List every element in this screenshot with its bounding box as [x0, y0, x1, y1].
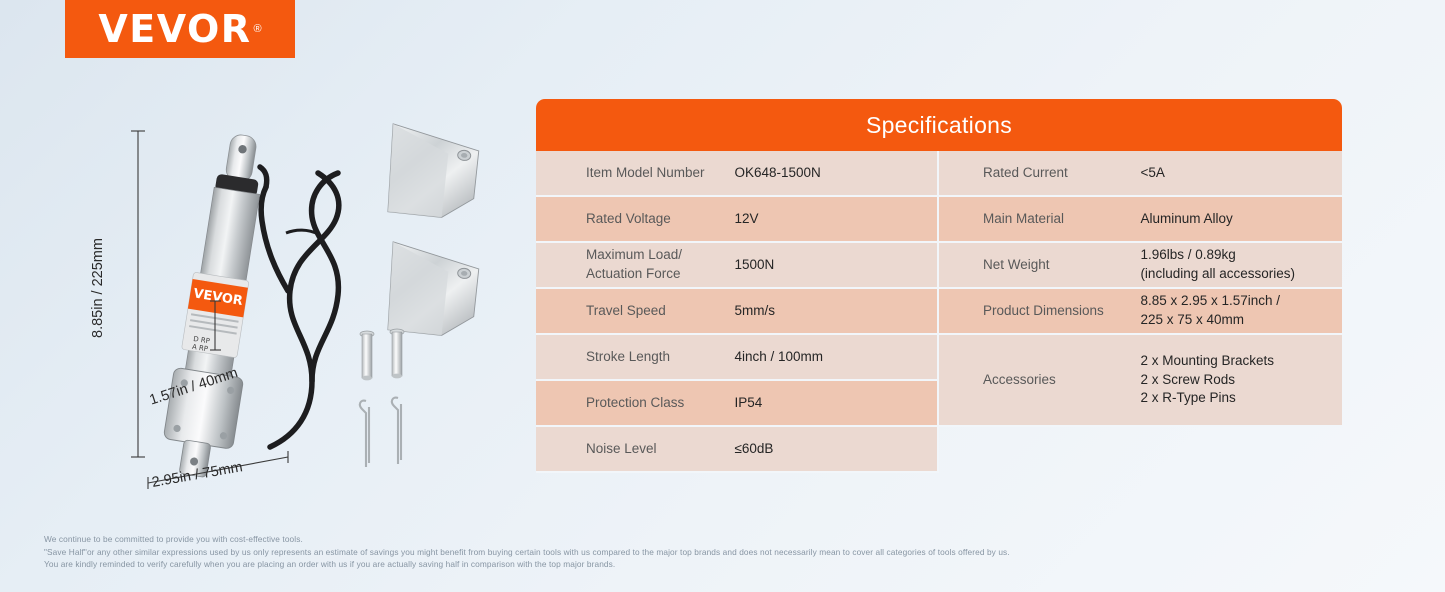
spec-value: 2 x Mounting Brackets2 x Screw Rods2 x R…: [1132, 352, 1342, 408]
spec-row-accessories: Accessories 2 x Mounting Brackets2 x Scr…: [939, 335, 1342, 427]
spec-value: ≤60dB: [728, 440, 937, 459]
screw-rod-2: [390, 329, 404, 378]
spec-value: 12V: [728, 210, 937, 229]
registered-trademark-icon: ®: [254, 23, 262, 35]
spec-value: 4inch / 100mm: [728, 348, 937, 367]
spec-value: IP54: [728, 394, 937, 413]
footer-line-3: You are kindly reminded to verify carefu…: [44, 558, 1374, 571]
spec-key: Maximum Load/Actuation Force: [536, 246, 728, 283]
spec-row-stroke-length: Stroke Length 4inch / 100mm: [536, 335, 937, 381]
spec-row-maximum-load: Maximum Load/Actuation Force 1500N: [536, 243, 937, 289]
spec-key: Main Material: [939, 210, 1132, 229]
cable-tie: [286, 230, 318, 234]
spec-key: Accessories: [939, 371, 1132, 390]
spec-key: Rated Current: [939, 164, 1132, 183]
spec-key: Item Model Number: [536, 164, 728, 183]
spec-row-rated-voltage: Rated Voltage 12V: [536, 197, 937, 243]
footer-disclaimer: We continue to be committed to provide y…: [44, 533, 1374, 571]
spec-key: Travel Speed: [536, 302, 728, 321]
specifications-left-column: Item Model Number OK648-1500N Rated Volt…: [536, 151, 939, 473]
mounting-bracket-1: [384, 124, 481, 221]
r-type-pin-1: [360, 401, 369, 467]
spec-row-noise-level: Noise Level ≤60dB: [536, 427, 937, 473]
r-type-pin-2: [392, 398, 401, 464]
vevor-logo: VEVOR®: [65, 0, 295, 58]
spec-value: 5mm/s: [728, 302, 937, 321]
specifications-body: Item Model Number OK648-1500N Rated Volt…: [536, 151, 1342, 473]
power-cable: [260, 167, 339, 447]
specifications-right-column: Rated Current <5A Main Material Aluminum…: [939, 151, 1342, 427]
spec-key: Protection Class: [536, 394, 728, 413]
spec-key: Net Weight: [939, 256, 1132, 275]
dimension-label-height: 8.85in / 225mm: [90, 238, 106, 338]
spec-value: 1.96lbs / 0.89kg(including all accessori…: [1132, 246, 1342, 283]
screw-rod-1: [360, 331, 374, 380]
mounting-bracket-2: [384, 242, 481, 339]
spec-row-rated-current: Rated Current <5A: [939, 151, 1342, 197]
spec-row-item-model-number: Item Model Number OK648-1500N: [536, 151, 937, 197]
spec-key: Product Dimensions: [939, 302, 1132, 321]
spec-value: 1500N: [728, 256, 937, 275]
spec-row-product-dimensions: Product Dimensions 8.85 x 2.95 x 1.57inc…: [939, 289, 1342, 335]
spec-row-net-weight: Net Weight 1.96lbs / 0.89kg(including al…: [939, 243, 1342, 289]
linear-actuator: VEVOR D RP A RP: [158, 130, 281, 481]
spec-key: Stroke Length: [536, 348, 728, 367]
spec-row-main-material: Main Material Aluminum Alloy: [939, 197, 1342, 243]
spec-value: <5A: [1132, 164, 1342, 183]
specifications-panel: Specifications Item Model Number OK648-1…: [536, 99, 1342, 473]
brand-name: VEVOR: [98, 10, 251, 48]
product-illustration: VEVOR D RP A RP: [90, 95, 510, 515]
spec-row-travel-speed: Travel Speed 5mm/s: [536, 289, 937, 335]
specifications-header: Specifications: [536, 99, 1342, 151]
specifications-title: Specifications: [866, 112, 1012, 139]
spec-value: OK648-1500N: [728, 164, 937, 183]
spec-key: Noise Level: [536, 440, 728, 459]
spec-key: Rated Voltage: [536, 210, 728, 229]
footer-line-1: We continue to be committed to provide y…: [44, 533, 1374, 546]
spec-value: 8.85 x 2.95 x 1.57inch /225 x 75 x 40mm: [1132, 292, 1342, 329]
spec-value: Aluminum Alloy: [1132, 210, 1342, 229]
spec-row-protection-class: Protection Class IP54: [536, 381, 937, 427]
dimension-line-height: [131, 131, 145, 457]
product-photo: VEVOR D RP A RP: [90, 95, 510, 515]
footer-line-2: "Save Half"or any other similar expressi…: [44, 546, 1374, 559]
